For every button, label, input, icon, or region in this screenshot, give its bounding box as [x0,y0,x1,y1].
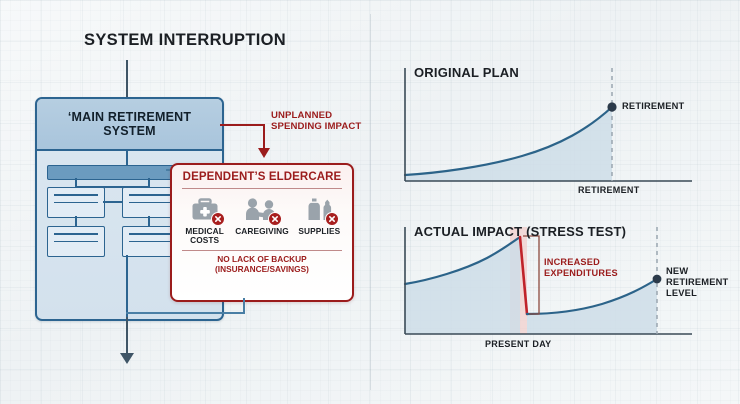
unplanned-elbow-vertical [263,124,265,150]
org-node-line [54,241,98,243]
unplanned-label-line2: SPENDING IMPACT [271,121,361,132]
eldercare-title: DEPENDENT’S ELDERCARE [172,171,352,183]
main-system-spine [126,255,128,317]
eldercare-return-horizontal [126,312,245,314]
eldercare-item-label-line1: CAREGIVING [235,226,289,236]
eldercare-item-medical-costs[interactable]: MEDICAL COSTS [177,195,233,244]
x-mark-icon [325,212,339,226]
main-system-spine [126,149,128,165]
eldercare-divider-top [182,188,342,189]
org-node-line [129,233,173,235]
x-mark-icon [268,212,282,226]
org-root-node [47,165,180,180]
org-node-line [54,194,98,196]
new-retirement-dot [653,275,662,284]
top-connector-line [126,60,128,97]
new-retirement-level-label: NEW RETIREMENT LEVEL [666,266,728,299]
increased-expenditures-line2: EXPENDITURES [544,268,618,278]
main-system-label-line1: ‘MAIN RETIREMENT [68,110,191,124]
main-system-label: ‘MAIN RETIREMENT SYSTEM [68,110,191,139]
original-plan-chart: ORIGINAL PLAN RETIREMENT RETIREMENT [392,63,722,198]
present-day-label: PRESENT DAY [485,339,552,349]
eldercare-items-row: MEDICAL COSTS [172,195,352,244]
eldercare-footer: NO LACK OF BACKUP (INSURANCE/SAVINGS) [172,255,352,275]
diagram-canvas: SYSTEM INTERRUPTION ‘MAIN RETIREMENT SYS… [0,0,740,404]
caregiving-handshake-icon [234,195,290,225]
org-connector-sibling [103,201,122,203]
org-node-line [54,202,98,204]
unplanned-elbow-horizontal [220,124,265,126]
retirement-simulation-panel: RETIREMENT NET WORTH SIMULATION ORIGINAL… [370,0,740,404]
eldercare-item-label: MEDICAL COSTS [177,227,233,244]
org-node [47,226,105,257]
bottom-arrow-head [120,353,134,364]
actual-impact-chart: ACTUAL IMPACT (STRESS TEST) INCREASED EX… [392,222,722,362]
new-retirement-line3: LEVEL [666,288,697,298]
new-retirement-line1: NEW [666,266,688,276]
org-node-line [54,233,98,235]
new-retirement-line2: RETIREMENT [666,277,728,287]
actual-impact-label: ACTUAL IMPACT (STRESS TEST) [414,224,626,239]
unplanned-label-line1: UNPLANNED [271,110,332,121]
eldercare-footer-line1: NO LACK OF BACKUP [217,254,306,264]
eldercare-item-label: CAREGIVING [234,227,290,236]
bottom-connector-line [126,317,128,355]
original-plan-area [405,107,612,181]
eldercare-item-label: SUPPLIES [291,227,347,236]
org-node-line [129,241,173,243]
eldercare-return-vertical [243,298,245,313]
unplanned-spending-impact-label: UNPLANNED SPENDING IMPACT [271,110,371,133]
org-connector-vertical [148,178,150,187]
main-system-label-line2: SYSTEM [103,124,156,138]
eldercare-item-supplies[interactable]: SUPPLIES [291,195,347,236]
supplies-bottles-icon [291,195,347,225]
original-plan-label: ORIGINAL PLAN [414,65,519,80]
main-retirement-system-header: ‘MAIN RETIREMENT SYSTEM [37,99,222,151]
original-plan-x-axis-label: RETIREMENT [578,185,640,195]
increased-expenditures-label: INCREASED EXPENDITURES [544,257,618,279]
eldercare-item-caregiving[interactable]: CAREGIVING [234,195,290,236]
eldercare-divider-bottom [182,250,342,251]
eldercare-item-label-line2: COSTS [190,235,219,245]
org-node-line [129,202,173,204]
org-node-line [129,194,173,196]
system-interruption-panel: SYSTEM INTERRUPTION ‘MAIN RETIREMENT SYS… [0,0,370,404]
retirement-dot [607,102,616,111]
actual-impact-area-pre [405,237,520,334]
medical-kit-icon [177,195,233,225]
org-node [47,187,105,218]
unplanned-arrow-head [258,148,270,158]
org-connector-vertical [148,216,150,226]
left-panel-title: SYSTEM INTERRUPTION [0,31,370,50]
retirement-point-label: RETIREMENT [622,101,684,112]
dependents-eldercare-box[interactable]: DEPENDENT’S ELDERCARE [170,163,354,302]
increased-expenditures-line1: INCREASED [544,257,600,267]
x-mark-icon [211,212,225,226]
eldercare-item-label-line1: SUPPLIES [298,226,340,236]
org-connector-vertical [75,216,77,226]
eldercare-footer-line2: (INSURANCE/SAVINGS) [215,264,309,274]
